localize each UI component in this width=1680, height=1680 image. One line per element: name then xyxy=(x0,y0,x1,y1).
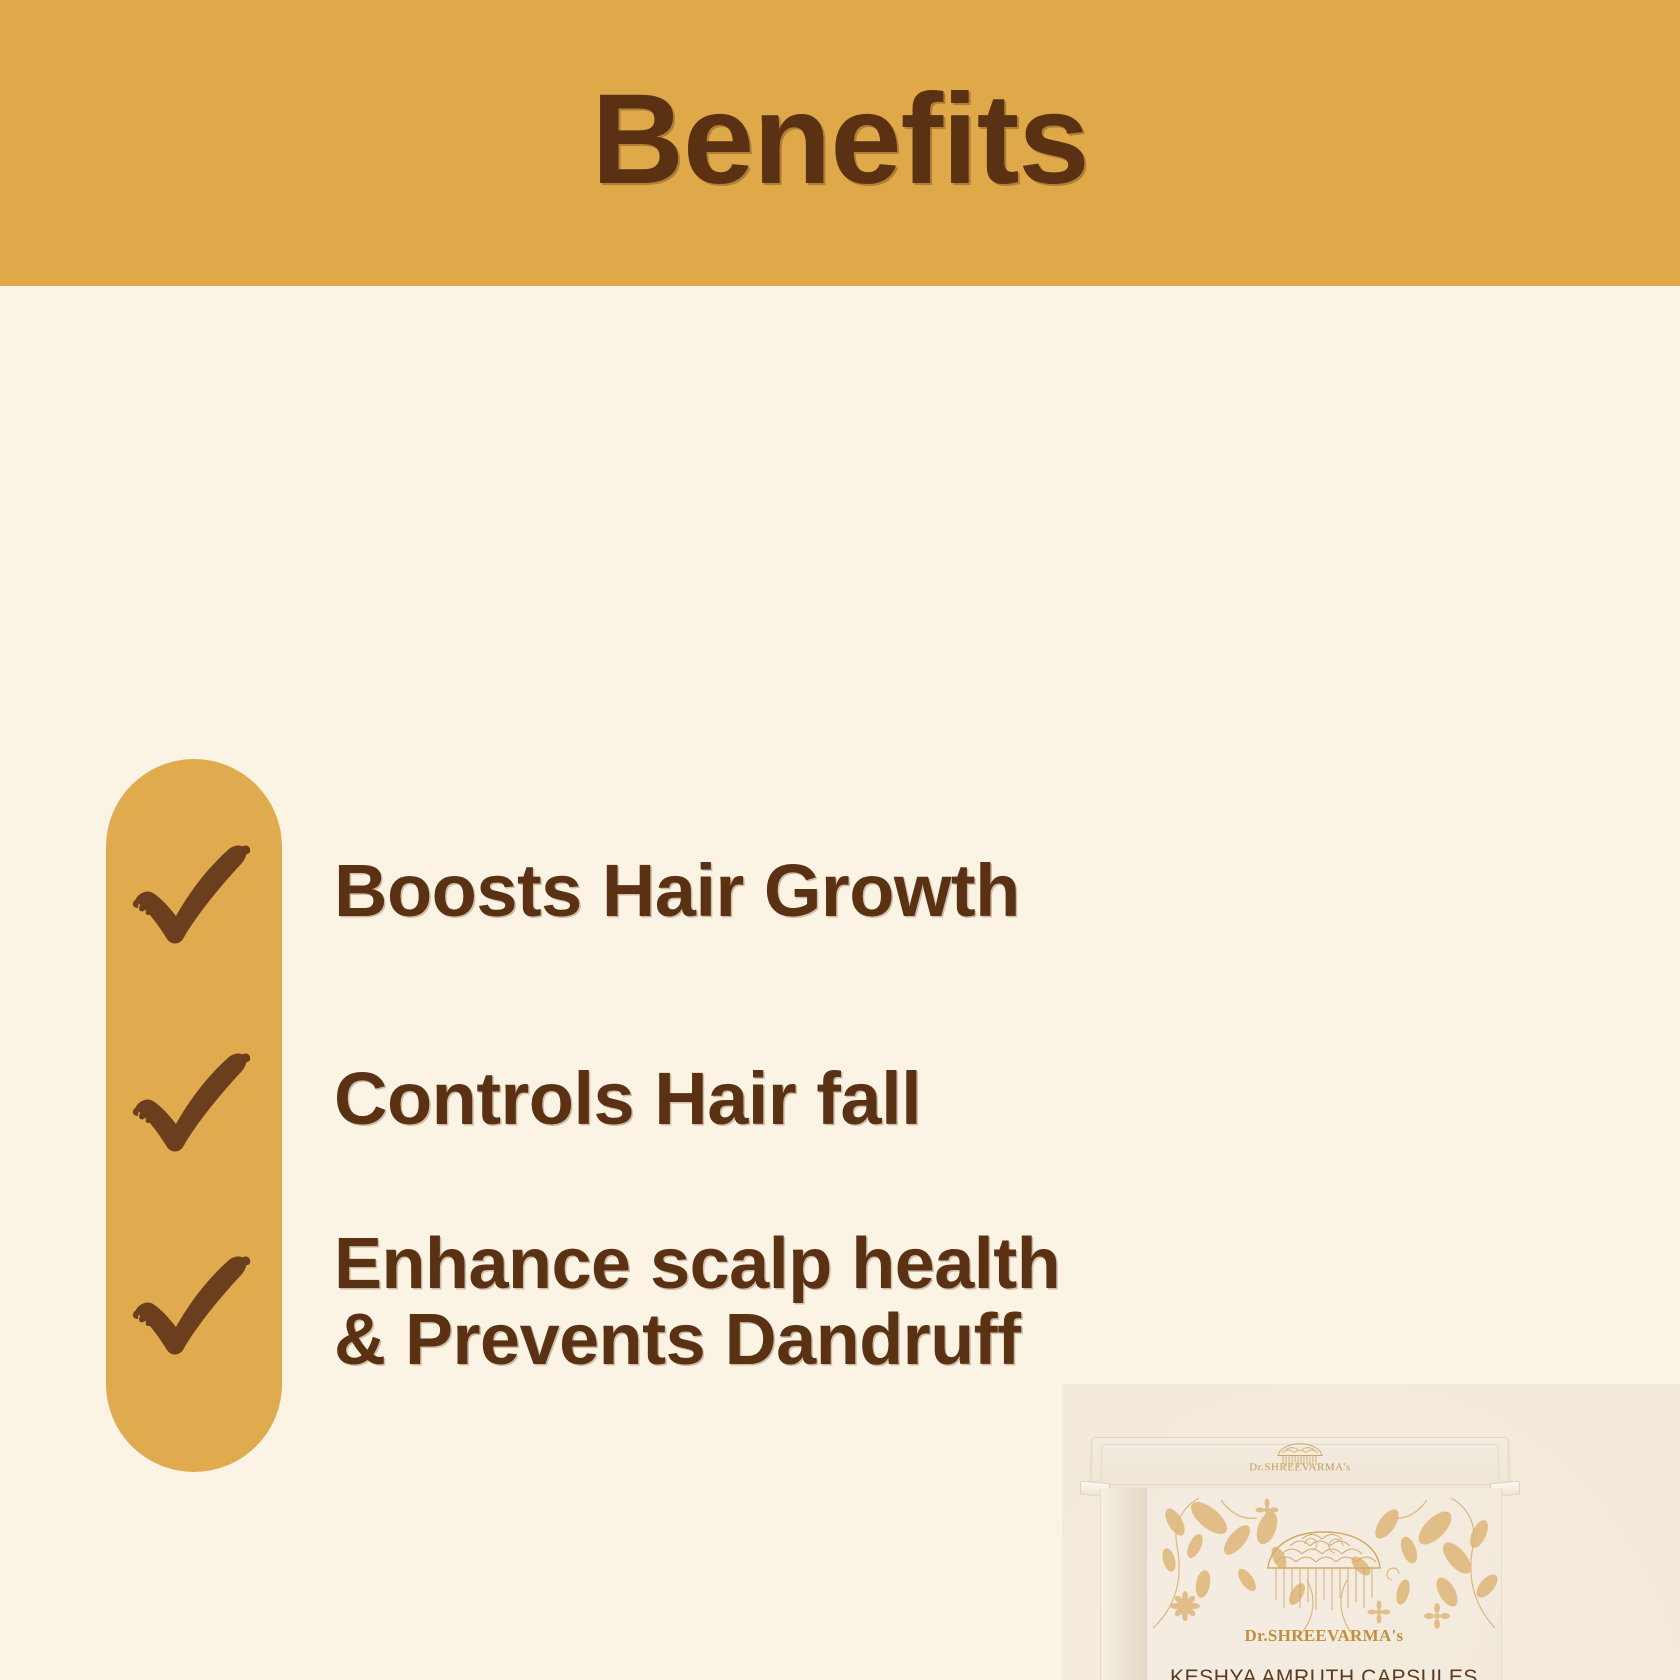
front-brand-label: Dr.SHREEVARMA's xyxy=(1147,1626,1501,1646)
page-title: Benefits xyxy=(0,76,1680,204)
benefits-poster: Benefits Boosts Hair Growth xyxy=(0,0,1680,1680)
check-mark-icon xyxy=(128,1249,260,1360)
package-lid-face: Dr.SHREEVARMA's xyxy=(1090,1437,1510,1490)
package-front-face: naturals Dr.SHREEVARMA's xyxy=(1100,1488,1502,1680)
product-package-image: Dr.SHREEVARMA's naturals Dr.SHREEVARMA's xyxy=(1062,1384,1680,1680)
header-band: Benefits xyxy=(0,0,1680,286)
floral-vine-pattern-icon xyxy=(1147,1488,1501,1648)
check-slot-3 xyxy=(106,1237,282,1367)
benefit-item-3: Enhance scalp health & Prevents Dandruff xyxy=(106,1226,1060,1379)
benefit-label-2: Controls Hair fall xyxy=(334,1061,921,1138)
product-name-label: KESHYA AMRUTH CAPSULES xyxy=(1147,1666,1501,1680)
check-slot-1 xyxy=(106,826,282,956)
check-slot-2 xyxy=(106,1034,282,1164)
package-spine: naturals Dr.SHREEVARMA's xyxy=(1101,1488,1147,1680)
check-mark-icon xyxy=(128,1046,260,1157)
benefit-item-2: Controls Hair fall xyxy=(106,1034,921,1164)
body-area: Boosts Hair Growth Controls Hair fall xyxy=(0,286,1680,1680)
benefit-label-3: Enhance scalp health & Prevents Dandruff xyxy=(334,1226,1060,1379)
check-mark-icon xyxy=(128,838,260,949)
benefit-label-1: Boosts Hair Growth xyxy=(334,853,1020,930)
benefit-item-1: Boosts Hair Growth xyxy=(106,826,1020,956)
lid-brand-label: Dr.SHREEVARMA's xyxy=(1092,1461,1509,1473)
